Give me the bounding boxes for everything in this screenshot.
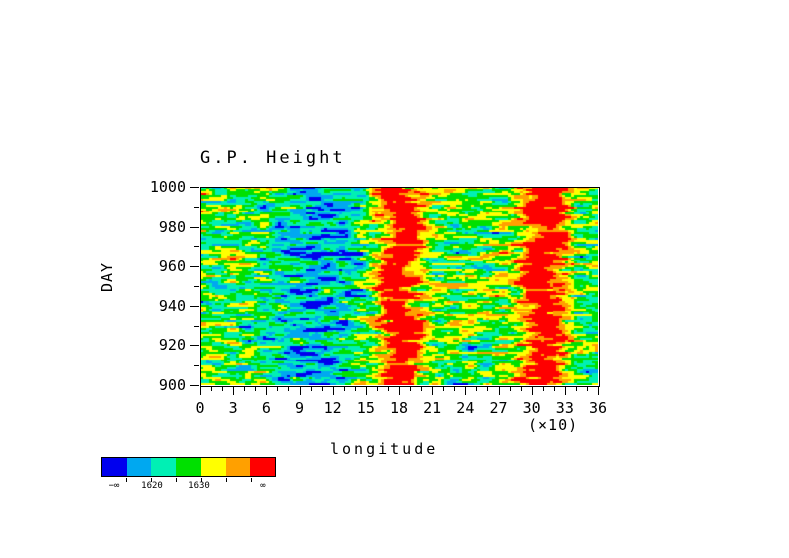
x-tick	[211, 386, 212, 391]
colorbar-label-tick2: 1630	[182, 481, 216, 491]
y-tick	[190, 306, 199, 307]
heatmap-canvas	[200, 187, 598, 385]
colorbar-segment	[127, 458, 152, 476]
colorbar-label-tick1: 1620	[135, 481, 169, 491]
y-tick	[194, 365, 199, 366]
x-tick	[432, 386, 433, 395]
heatmap-plot-area	[200, 187, 598, 385]
x-tick	[521, 386, 522, 391]
x-tick	[565, 386, 566, 395]
x-tick	[454, 386, 455, 391]
x-axis-title: longitude	[330, 440, 438, 458]
x-tick	[233, 386, 234, 395]
y-tick	[194, 286, 199, 287]
colorbar-separator	[226, 478, 227, 482]
x-tick	[543, 386, 544, 391]
x-tick	[421, 386, 422, 391]
x-tick	[266, 386, 267, 395]
colorbar-label-min: −∞	[97, 481, 131, 491]
x-tick	[598, 386, 599, 395]
x-tick	[388, 386, 389, 391]
x-tick	[532, 386, 533, 395]
y-tick	[194, 246, 199, 247]
x-tick	[510, 386, 511, 391]
y-tick-label: 960	[124, 257, 186, 275]
x-tick	[399, 386, 400, 395]
y-tick	[190, 385, 199, 386]
colorbar-segment	[102, 458, 127, 476]
figure-canvas: G.P. Height 0369121518212427303336 90092…	[0, 0, 789, 558]
x-tick	[300, 386, 301, 395]
y-tick-label: 940	[124, 297, 186, 315]
y-tick	[190, 227, 199, 228]
x-tick	[222, 386, 223, 391]
colorbar-label-max: ∞	[246, 481, 280, 491]
x-tick	[576, 386, 577, 391]
colorbar-segment	[250, 458, 275, 476]
colorbar-segment	[151, 458, 176, 476]
x-axis-multiplier-note: (×10)	[528, 416, 578, 434]
y-tick	[194, 207, 199, 208]
x-tick	[355, 386, 356, 391]
x-tick	[465, 386, 466, 395]
x-tick	[244, 386, 245, 391]
x-tick	[322, 386, 323, 391]
colorbar: −∞ 1620 1630 ∞	[101, 457, 276, 477]
y-tick-label: 1000	[124, 178, 186, 196]
y-tick-label: 920	[124, 336, 186, 354]
y-tick-label: 980	[124, 218, 186, 236]
x-tick	[554, 386, 555, 391]
x-tick	[366, 386, 367, 395]
y-tick	[194, 326, 199, 327]
colorbar-segment	[201, 458, 226, 476]
x-tick	[587, 386, 588, 391]
colorbar-segment	[176, 458, 201, 476]
x-tick-label: 36	[578, 399, 618, 417]
colorbar-segment	[226, 458, 251, 476]
x-tick	[200, 386, 201, 395]
x-tick	[333, 386, 334, 395]
y-tick	[190, 266, 199, 267]
y-tick	[190, 187, 199, 188]
y-axis-title: DAY	[98, 262, 116, 292]
x-tick	[487, 386, 488, 391]
x-tick	[277, 386, 278, 391]
y-tick	[190, 345, 199, 346]
colorbar-swatches	[101, 457, 276, 477]
x-tick	[443, 386, 444, 391]
x-tick	[476, 386, 477, 391]
colorbar-separator	[176, 478, 177, 482]
x-tick	[377, 386, 378, 391]
x-tick	[255, 386, 256, 391]
y-tick-label: 900	[124, 376, 186, 394]
x-tick	[499, 386, 500, 395]
x-tick	[410, 386, 411, 391]
chart-title: G.P. Height	[200, 148, 346, 168]
x-tick	[311, 386, 312, 391]
x-tick	[344, 386, 345, 391]
x-tick	[288, 386, 289, 391]
